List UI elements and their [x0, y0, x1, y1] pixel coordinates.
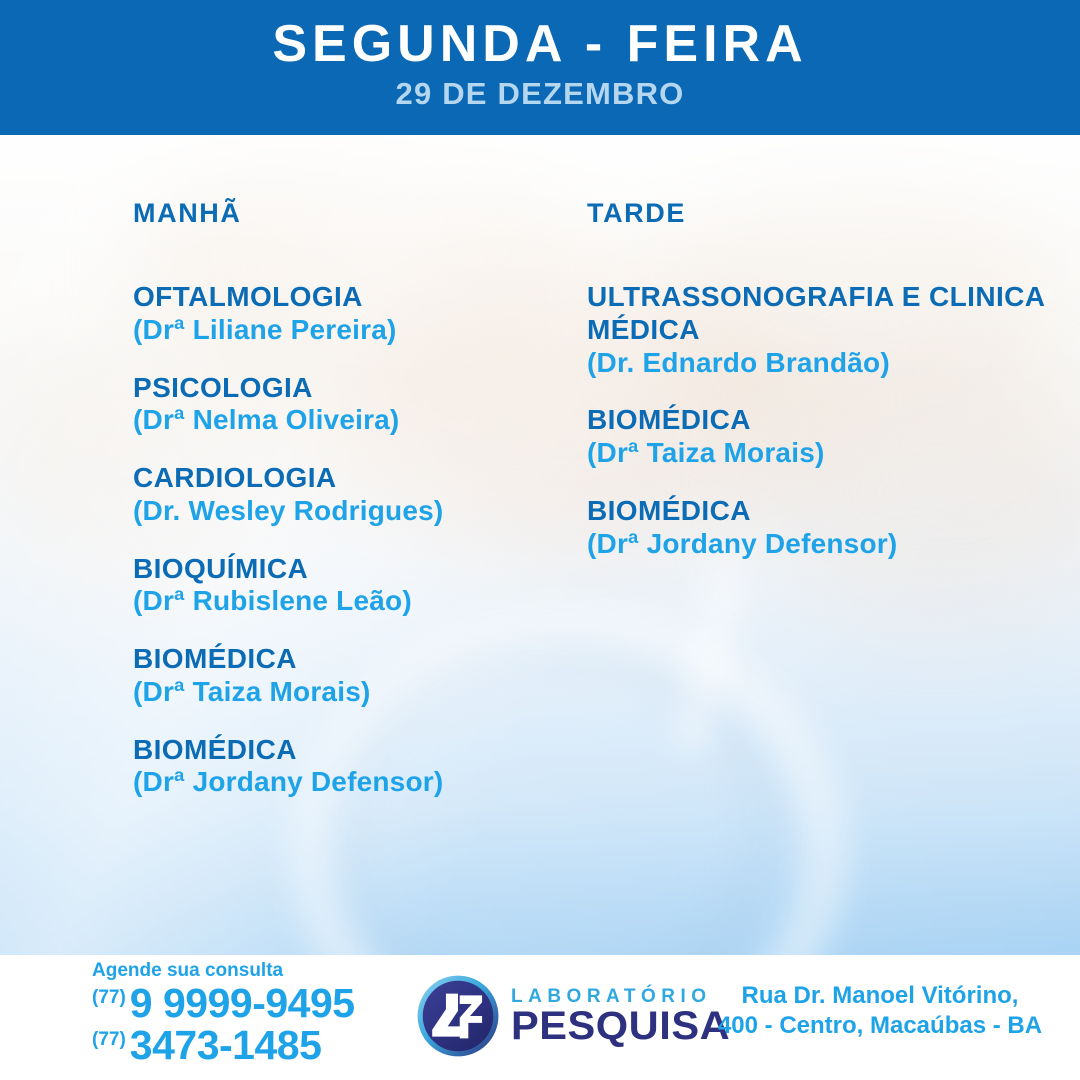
- header-date: 29 DE DEZEMBRO: [396, 78, 685, 111]
- doctor-name: (Drª Liliane Pereira): [133, 314, 563, 347]
- morning-column: MANHÃ OFTALMOLOGIA (Drª Liliane Pereira)…: [133, 200, 563, 799]
- schedule-entry: BIOMÉDICA (Drª Taiza Morais): [587, 404, 1067, 470]
- doctor-name: (Drª Taiza Morais): [587, 437, 1067, 470]
- contact-block: Agende sua consulta (77) 9 9999-9495 (77…: [92, 961, 392, 1066]
- doctor-name: (Drª Jordany Defensor): [587, 528, 1067, 561]
- schedule-entry: BIOMÉDICA (Drª Jordany Defensor): [133, 734, 563, 800]
- schedule-entry: CARDIOLOGIA (Dr. Wesley Rodrigues): [133, 462, 563, 528]
- address-line-2: 400 - Centro, Macaúbas - BA: [700, 1011, 1060, 1041]
- schedule-entry: PSICOLOGIA (Drª Nelma Oliveira): [133, 372, 563, 438]
- schedule-entry: ULTRASSONOGRAFIA E CLINICA MÉDICA (Dr. E…: [587, 281, 1067, 379]
- doctor-name: (Drª Taiza Morais): [133, 676, 563, 709]
- brand-bottom-word: PESQUISA: [511, 1007, 730, 1045]
- specialty-name: ULTRASSONOGRAFIA E CLINICA MÉDICA: [587, 281, 1067, 347]
- address-line-1: Rua Dr. Manoel Vitórino,: [700, 981, 1060, 1011]
- schedule-entry: BIOMÉDICA (Drª Jordany Defensor): [587, 495, 1067, 561]
- schedule-entry: BIOQUÍMICA (Drª Rubislene Leão): [133, 553, 563, 619]
- schedule-content: MANHÃ OFTALMOLOGIA (Drª Liliane Pereira)…: [0, 135, 1080, 955]
- page-title: SEGUNDA - FEIRA: [272, 16, 807, 72]
- phone-number[interactable]: 3473-1485: [130, 1025, 322, 1066]
- poster-footer: Agende sua consulta (77) 9 9999-9495 (77…: [0, 955, 1080, 1080]
- flask-logo-icon: [415, 973, 501, 1059]
- specialty-name: BIOQUÍMICA: [133, 553, 563, 586]
- period-label-afternoon: TARDE: [587, 200, 1067, 227]
- schedule-entry: OFTALMOLOGIA (Drª Liliane Pereira): [133, 281, 563, 347]
- brand-logo: LABORATÓRIO PESQUISA: [415, 973, 722, 1059]
- cta-label: Agende sua consulta: [92, 961, 392, 982]
- phone-row-landline[interactable]: (77) 3473-1485: [92, 1025, 392, 1066]
- specialty-name: BIOMÉDICA: [587, 404, 1067, 437]
- poster-header: SEGUNDA - FEIRA 29 DE DEZEMBRO: [0, 0, 1080, 135]
- phone-row-mobile[interactable]: (77) 9 9999-9495: [92, 983, 392, 1024]
- afternoon-column: TARDE ULTRASSONOGRAFIA E CLINICA MÉDICA …: [587, 200, 1067, 560]
- specialty-name: BIOMÉDICA: [133, 643, 563, 676]
- doctor-name: (Drª Nelma Oliveira): [133, 404, 563, 437]
- specialty-name: CARDIOLOGIA: [133, 462, 563, 495]
- doctor-name: (Dr. Wesley Rodrigues): [133, 495, 563, 528]
- period-label-morning: MANHÃ: [133, 200, 563, 227]
- area-code: (77): [92, 1030, 126, 1049]
- doctor-name: (Drª Jordany Defensor): [133, 766, 563, 799]
- doctor-name: (Dr. Ednardo Brandão): [587, 347, 1067, 380]
- phone-number[interactable]: 9 9999-9495: [130, 983, 355, 1024]
- address-block: Rua Dr. Manoel Vitórino, 400 - Centro, M…: [700, 981, 1060, 1041]
- brand-wordmark: LABORATÓRIO PESQUISA: [511, 987, 722, 1045]
- specialty-name: BIOMÉDICA: [133, 734, 563, 767]
- specialty-name: OFTALMOLOGIA: [133, 281, 563, 314]
- specialty-name: PSICOLOGIA: [133, 372, 563, 405]
- area-code: (77): [92, 988, 126, 1007]
- doctor-name: (Drª Rubislene Leão): [133, 585, 563, 618]
- schedule-poster: SEGUNDA - FEIRA 29 DE DEZEMBRO MANHÃ OFT…: [0, 0, 1080, 1080]
- schedule-entry: BIOMÉDICA (Drª Taiza Morais): [133, 643, 563, 709]
- specialty-name: BIOMÉDICA: [587, 495, 1067, 528]
